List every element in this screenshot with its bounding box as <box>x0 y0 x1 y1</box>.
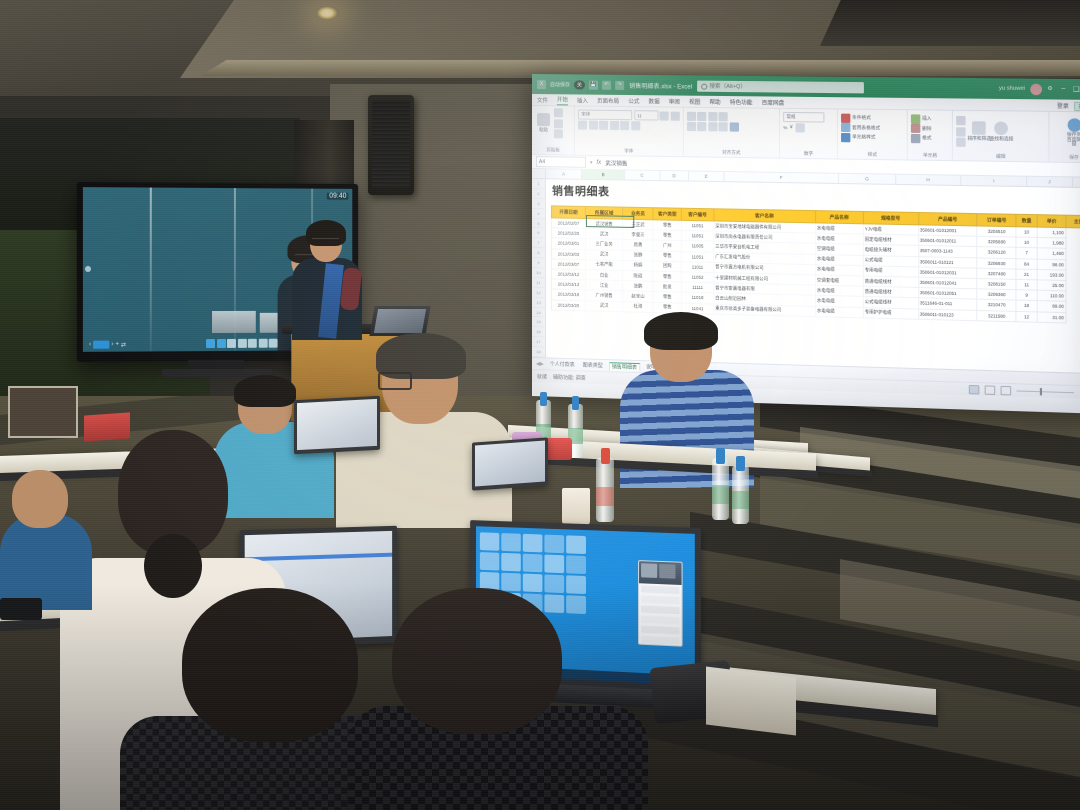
currency-style-icon[interactable]: ￥ <box>789 124 794 130</box>
left-handle-icon[interactable] <box>85 266 91 272</box>
user-account[interactable]: yu shuwei ⚙ <box>999 83 1053 95</box>
whiteboard-toolbar[interactable] <box>206 339 278 348</box>
table-cell[interactable]: 武汉销售 <box>586 219 623 230</box>
table-header-cell: 数量 <box>1016 214 1037 227</box>
soffit-lip <box>200 60 1080 76</box>
clear-icon[interactable] <box>957 138 966 147</box>
nav-next-icon[interactable]: › <box>111 342 113 348</box>
row-header[interactable]: 9 <box>532 258 545 268</box>
share-button[interactable]: 共享 <box>1074 102 1080 112</box>
glasses-icon <box>378 372 412 390</box>
table-cell[interactable]: 11011 <box>681 262 713 273</box>
format-painter-icon[interactable] <box>554 129 563 138</box>
tab-formulas[interactable]: 公式 <box>628 97 639 106</box>
table-cell[interactable]: 李俊三 <box>623 229 653 240</box>
table-cell[interactable]: 11111 <box>681 282 713 293</box>
increase-decimal-icon[interactable] <box>795 123 804 132</box>
font-size-select[interactable]: 11 <box>634 110 658 120</box>
ribbon-group-clipboard[interactable]: 粘贴 剪贴板 <box>532 106 575 155</box>
ribbon-group-font[interactable]: 宋体 11 <box>575 106 683 156</box>
normal-view-icon[interactable] <box>969 384 980 394</box>
select-all-corner[interactable] <box>532 169 546 178</box>
table-header-cell: 单价 <box>1037 215 1067 228</box>
desktop-icon[interactable] <box>523 554 543 573</box>
pen-icon[interactable] <box>206 339 215 348</box>
table-cell[interactable]: 广州 <box>653 240 681 251</box>
column-header-h[interactable]: H <box>896 175 961 185</box>
desktop-icon[interactable] <box>480 532 499 551</box>
tab-insert[interactable]: 插入 <box>577 96 588 105</box>
red-folder <box>84 412 130 441</box>
column-header-b[interactable]: B <box>582 170 625 180</box>
water-bottle-3 <box>596 448 614 522</box>
formula-input[interactable]: 武汉销售 <box>605 159 627 167</box>
group-label-editing: 编辑 <box>957 153 1046 161</box>
group-label-styles: 样式 <box>841 151 904 159</box>
row-header[interactable]: 13 <box>532 298 545 308</box>
fill-color-icon[interactable] <box>620 121 629 130</box>
table-cell[interactable]: 10 <box>1016 237 1037 248</box>
ribbon-group-styles[interactable]: 条件格式 套用表格格式 单元格样式 样式 <box>838 109 908 159</box>
table-cell[interactable]: 批发 <box>653 281 681 292</box>
group-label-save: 保存 <box>1053 154 1080 162</box>
table-header-cell: 客户类型 <box>653 208 681 221</box>
laptop-2[interactable] <box>294 396 380 455</box>
excel-window[interactable]: X 自动保存 关 💾 ↶ ↷ 销售明细表.xlsx - Excel 搜索（Alt… <box>532 74 1080 414</box>
presenter-in-room <box>292 224 362 336</box>
table-cell[interactable]: 赵宝山 <box>623 291 653 302</box>
table-header-cell: 主要额 <box>1066 215 1080 228</box>
table-cell[interactable]: 11 <box>1016 279 1037 290</box>
table-cell[interactable]: 11051 <box>681 251 713 262</box>
chat-avatar-2 <box>659 564 675 579</box>
table-cell[interactable]: 10 <box>1016 227 1037 238</box>
wrap-text-icon[interactable] <box>719 112 728 121</box>
indent-icon[interactable] <box>719 122 728 131</box>
align-right-icon[interactable] <box>708 122 717 131</box>
chat-avatar <box>641 563 657 578</box>
table-cell[interactable]: 水电电缆 <box>815 306 863 318</box>
row-header[interactable]: 16 <box>532 327 545 337</box>
sheet-tab-1[interactable]: 图表类型 <box>581 361 605 369</box>
undo-icon[interactable] <box>258 339 267 348</box>
table-header-cell: 所属区域 <box>586 206 623 219</box>
table-cell[interactable]: 团购 <box>653 261 681 272</box>
excel-logo-icon: X <box>537 80 546 89</box>
table-cell[interactable]: 12 <box>1016 311 1037 322</box>
font-name-select[interactable]: 宋体 <box>578 110 632 121</box>
framed-photo <box>8 386 78 438</box>
align-center-icon[interactable] <box>697 122 706 131</box>
row-header[interactable]: 12 <box>532 288 545 298</box>
group-label-clipboard: 剪贴板 <box>535 147 571 155</box>
desktop-icon[interactable] <box>566 535 586 554</box>
status-accessibility[interactable]: 辅助功能: 调查 <box>553 373 586 381</box>
sign-in-link[interactable]: 登录 <box>1057 102 1069 111</box>
view-controls[interactable]: 100% <box>969 384 1080 397</box>
avatar <box>1030 83 1042 94</box>
attendee-front-right <box>348 588 648 810</box>
undo-icon[interactable]: ↶ <box>602 80 611 89</box>
cloud-save-icon <box>1067 118 1080 132</box>
group-label-alignment: 对齐方式 <box>687 149 776 157</box>
chat-header <box>639 561 682 585</box>
column-header-d[interactable]: D <box>660 171 689 181</box>
shape-icon[interactable] <box>237 339 246 348</box>
table-cell[interactable]: 2012/03/01 <box>551 238 585 249</box>
sheet-nav-arrows[interactable]: ◀▶ <box>536 361 544 367</box>
fill-icon[interactable] <box>957 127 966 136</box>
table-cell[interactable]: 2012/03/03 <box>551 248 585 259</box>
table-header-cell: 客户编号 <box>681 208 713 221</box>
highlighter-icon[interactable] <box>217 339 226 348</box>
column-header-a[interactable]: A <box>546 169 583 179</box>
quick-access-toolbar[interactable]: X 自动保存 关 💾 ↶ ↷ <box>537 80 624 90</box>
save-to-netdisk-button[interactable]: 保存到 百度网盘 <box>1065 117 1080 148</box>
table-cell[interactable]: 周勇 <box>623 240 653 251</box>
sales-detail-table[interactable]: 开票日期所属区域业务员客户类型客户编号客户名称产品名称规格型号产品编号订单编号数… <box>551 205 1080 324</box>
table-cell[interactable]: 3205680 <box>977 236 1016 247</box>
table-cell[interactable]: 11005 <box>681 241 713 252</box>
water-bottle-4 <box>712 448 729 520</box>
tab-review[interactable]: 审阅 <box>669 97 680 106</box>
maximize-button[interactable]: ❑ <box>1073 85 1080 93</box>
notepad <box>706 666 796 735</box>
formula-dropdown-icon[interactable]: ▾ <box>590 159 593 165</box>
laptop-3[interactable] <box>472 437 548 490</box>
sort-filter-icon <box>972 121 986 135</box>
paper-cup <box>562 488 590 526</box>
table-cell[interactable]: 陈硕 <box>623 270 653 281</box>
table-cell[interactable]: 11052 <box>681 272 713 283</box>
italic-icon[interactable] <box>589 120 598 129</box>
ceiling-downlight <box>316 6 338 20</box>
tab-page-layout[interactable]: 页面布局 <box>597 97 619 106</box>
table-cell[interactable]: 张鹏 <box>623 281 653 292</box>
whiteboard-nav[interactable]: ‹ › + ⇄ <box>89 340 126 348</box>
row-header[interactable]: 15 <box>532 317 545 327</box>
table-cell[interactable]: 2012/03/20 <box>551 299 585 310</box>
window-controls[interactable]: – ❑ ✕ <box>1058 85 1080 94</box>
page-indicator[interactable] <box>93 341 109 349</box>
row-header[interactable]: 11 <box>532 278 545 288</box>
sheet-tab-0[interactable]: 个人付款表 <box>548 360 577 368</box>
ceiling-beam <box>820 0 1080 46</box>
number-format-select[interactable]: 常规 <box>783 112 824 123</box>
row-header[interactable]: 17 <box>532 337 545 347</box>
more-icon[interactable] <box>269 339 278 348</box>
tell-me-search[interactable]: 搜索（Alt+Q） <box>697 80 864 93</box>
bold-icon[interactable] <box>578 120 587 129</box>
table-cell[interactable]: 3506011-010123 <box>918 308 977 320</box>
delete-cells-icon[interactable] <box>911 124 920 133</box>
document-title: 销售明细表.xlsx - Excel <box>629 80 692 90</box>
conditional-formatting-icon[interactable] <box>841 113 850 122</box>
table-cell[interactable]: 98.00 <box>1037 259 1067 270</box>
insert-cells-icon[interactable] <box>911 114 920 123</box>
desktop-icon[interactable] <box>501 553 521 572</box>
ribbon-group-number[interactable]: 常规 % ￥ 数字 <box>780 109 838 159</box>
table-cell[interactable]: 7 <box>1016 248 1037 259</box>
tab-home[interactable]: 开始 <box>557 95 568 105</box>
find-select-icon <box>995 122 1009 136</box>
align-top-icon[interactable] <box>687 111 696 120</box>
desktop-icon[interactable] <box>523 534 543 553</box>
insert-function-icon[interactable]: fx <box>597 159 602 165</box>
sort-filter-button[interactable]: 排序和筛选 <box>970 116 988 147</box>
format-cells-icon[interactable] <box>911 133 920 142</box>
whiteboard-clock: 09:40 <box>327 193 348 200</box>
row-header[interactable]: 4 <box>532 209 545 219</box>
table-cell[interactable]: 2012/02/20 <box>551 228 585 239</box>
table-cell[interactable]: 25.00 <box>1037 280 1067 291</box>
ribbon[interactable]: 粘贴 剪贴板 宋体 11 <box>532 106 1080 163</box>
desktop-icon[interactable] <box>480 552 499 571</box>
zoom-knob[interactable] <box>1040 388 1042 395</box>
group-label-font: 字体 <box>578 148 679 157</box>
table-cell[interactable]: 张静 <box>623 250 653 261</box>
row-header[interactable]: 18 <box>532 347 545 357</box>
table-body[interactable]: 2012/02/07武汉销售王正武零售11051深圳市宝安地球电磁器件有限公司水… <box>551 218 1080 324</box>
autosave-toggle[interactable]: 关 <box>574 80 585 89</box>
speaker-grille-icon <box>372 100 410 188</box>
table-cell[interactable]: 1,100 <box>1037 227 1067 238</box>
cell-styles-icon[interactable] <box>841 132 850 141</box>
tab-data[interactable]: 数据 <box>648 97 659 106</box>
table-cell[interactable]: 193.00 <box>1037 269 1067 280</box>
autosum-icon[interactable] <box>957 116 966 125</box>
table-cell[interactable]: 110.00 <box>1037 290 1067 301</box>
merge-center-icon[interactable] <box>730 122 739 131</box>
tab-view[interactable]: 视图 <box>689 98 700 107</box>
font-color-icon[interactable] <box>631 121 640 130</box>
select-icon[interactable] <box>248 339 257 348</box>
table-header-cell: 业务员 <box>623 207 653 220</box>
table-cell[interactable]: 3211580 <box>977 310 1016 321</box>
row-header[interactable]: 2 <box>532 189 545 199</box>
table-cell[interactable]: 武汉 <box>586 300 623 311</box>
table-cell[interactable]: 零售 <box>653 251 681 262</box>
page-break-view-icon[interactable] <box>1001 385 1012 395</box>
table-cell[interactable]: 31.00 <box>1037 311 1067 322</box>
group-label-number: 数字 <box>783 151 834 159</box>
format-as-table-icon[interactable] <box>841 123 850 132</box>
presenter-room-glasses-icon <box>312 238 339 245</box>
ribbon-group-baidu-save[interactable]: 保存到 百度网盘 保存 <box>1050 112 1080 162</box>
page-layout-view-icon[interactable] <box>985 385 996 395</box>
row-header[interactable]: 5 <box>532 219 545 229</box>
desktop-icon[interactable] <box>544 554 564 573</box>
desktop-icon[interactable] <box>544 535 564 554</box>
row-header[interactable]: 8 <box>532 248 545 258</box>
table-cell[interactable]: 2012/03/07 <box>551 259 585 270</box>
redo-icon[interactable]: ↷ <box>615 80 624 89</box>
table-cell[interactable]: 3204510 <box>977 226 1016 237</box>
copy-icon[interactable] <box>554 119 563 128</box>
table-cell[interactable]: 专用护护电缆 <box>863 307 918 319</box>
paste-icon <box>537 113 550 126</box>
column-header-e[interactable]: E <box>689 171 724 181</box>
group-label-cells: 单元格 <box>911 152 949 160</box>
borders-icon[interactable] <box>610 120 619 129</box>
table-cell[interactable]: 1,460 <box>1037 248 1067 259</box>
percent-style-icon[interactable]: % <box>783 125 787 130</box>
table-cell[interactable]: 王正武 <box>623 219 653 230</box>
table-cell[interactable]: 杜琦 <box>623 301 653 312</box>
tab-special-features[interactable]: 特色功能 <box>730 98 753 107</box>
user-name: yu shuwei <box>999 85 1025 91</box>
table-header-cell: 订单编号 <box>977 214 1016 227</box>
column-header-k[interactable]: K <box>1073 177 1080 187</box>
save-icon[interactable]: 💾 <box>589 80 598 89</box>
table-cell[interactable]: 11051 <box>681 231 713 242</box>
ribbon-group-editing[interactable]: 排序和筛选 查找和选择 编辑 <box>953 111 1049 162</box>
row-header[interactable]: 3 <box>532 199 545 209</box>
smartphone <box>0 598 42 620</box>
table-cell[interactable]: 89.00 <box>1037 301 1067 312</box>
column-header-f[interactable]: F <box>724 172 839 183</box>
table-cell[interactable]: 2012/02/07 <box>551 218 585 229</box>
nav-share-icon[interactable]: ⇄ <box>121 341 126 348</box>
tab-baidu-netdisk[interactable]: 百度网盘 <box>762 98 785 107</box>
align-bottom-icon[interactable] <box>708 112 717 121</box>
find-select-button[interactable]: 查找和选择 <box>993 116 1011 147</box>
projection-screen: X 自动保存 关 💾 ↶ ↷ 销售明细表.xlsx - Excel 搜索（Alt… <box>532 74 1080 414</box>
worksheet-grid[interactable]: 123456789101112131415161718 销售明细表 开票日期所属… <box>532 179 1080 373</box>
autosave-label: 自动保存 <box>550 81 570 88</box>
align-left-icon[interactable] <box>687 121 696 130</box>
table-cell[interactable]: 杨娟 <box>623 260 653 271</box>
table-cell[interactable]: 零售 <box>653 220 681 231</box>
name-box[interactable]: A4 <box>536 156 586 168</box>
ribbon-display-options-icon[interactable]: ⚙ <box>1047 86 1052 92</box>
column-header-g[interactable]: G <box>839 174 896 184</box>
row-header[interactable]: 14 <box>532 308 545 318</box>
desktop-icon[interactable] <box>501 533 521 552</box>
table-cell[interactable]: 9 <box>1016 290 1037 301</box>
minimize-button[interactable]: – <box>1061 85 1065 93</box>
nav-add-icon[interactable]: + <box>115 342 119 348</box>
table-cell[interactable]: 18 <box>1016 300 1037 311</box>
cut-icon[interactable] <box>554 108 563 117</box>
zoom-slider[interactable] <box>1017 390 1075 393</box>
eraser-icon[interactable] <box>227 339 236 348</box>
water-bottle-5 <box>732 456 749 524</box>
sheet-heading: 销售明细表 <box>552 182 610 199</box>
align-middle-icon[interactable] <box>697 111 706 120</box>
desktop-icon[interactable] <box>566 555 586 574</box>
whiteboard-monitor <box>212 311 256 333</box>
table-cell[interactable]: 21 <box>1016 269 1037 280</box>
table-cell[interactable]: 武汉 <box>586 229 623 240</box>
row-header[interactable]: 10 <box>532 268 545 278</box>
column-header-j[interactable]: J <box>1027 177 1072 187</box>
increase-font-icon[interactable] <box>660 111 669 120</box>
table-cell[interactable]: 零售 <box>653 292 681 303</box>
table-header-cell: 规格型号 <box>863 212 918 225</box>
status-mode: 就绪 <box>537 373 547 380</box>
row-header[interactable]: 7 <box>532 238 545 248</box>
table-cell[interactable]: 1,980 <box>1037 238 1067 249</box>
table-header-cell: 产品编号 <box>918 213 977 226</box>
tab-file[interactable]: 文件 <box>537 96 548 105</box>
table-header-cell: 产品名称 <box>815 211 863 224</box>
table-cell[interactable]: 重庆市徐高多子装备电器有限公司 <box>714 303 816 316</box>
ribbon-group-cells[interactable]: 插入 删除 格式 单元格 <box>908 110 954 160</box>
row-header-column[interactable]: 123456789101112131415161718 <box>532 179 546 357</box>
underline-icon[interactable] <box>599 120 608 129</box>
table-cell[interactable]: 零售 <box>653 271 681 282</box>
lectern-laptop-screen <box>374 309 426 333</box>
table-cell[interactable]: 零售 <box>653 230 681 241</box>
nav-prev-icon[interactable]: ‹ <box>89 342 91 348</box>
decrease-font-icon[interactable] <box>671 111 680 120</box>
ribbon-group-alignment[interactable]: 对齐方式 <box>684 108 780 158</box>
table-header-cell: 开票日期 <box>551 206 585 219</box>
row-header[interactable]: 1 <box>532 179 545 189</box>
paste-button[interactable]: 粘贴 <box>535 108 552 138</box>
tab-help[interactable]: 帮助 <box>709 98 720 107</box>
attendee-far-left <box>0 470 92 610</box>
column-header-c[interactable]: C <box>625 170 660 180</box>
row-header[interactable]: 6 <box>532 228 545 238</box>
table-cell[interactable]: 11051 <box>681 220 713 231</box>
training-room-photo: X 自动保存 关 💾 ↶ ↷ 销售明细表.xlsx - Excel 搜索（Alt… <box>0 0 1080 810</box>
column-header-i[interactable]: I <box>961 176 1027 186</box>
table-cell[interactable]: 84 <box>1016 258 1037 269</box>
